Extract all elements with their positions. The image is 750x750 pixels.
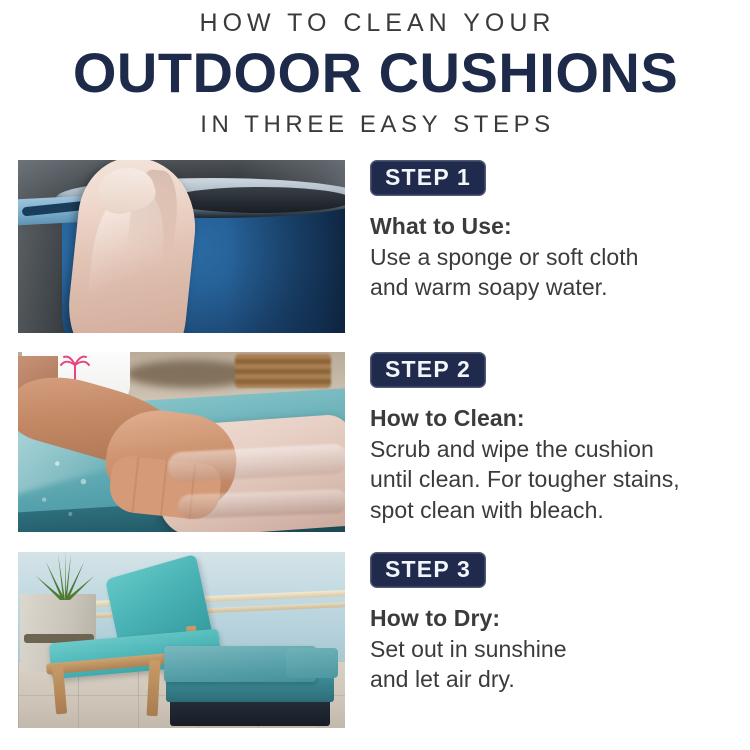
infographic-poster: HOW TO CLEAN YOUR OUTDOOR CUSHIONS IN TH…: [0, 0, 750, 750]
bucket-rim-shadow: [168, 187, 345, 213]
step-1-photo: [18, 160, 345, 333]
header-subkicker: IN THREE EASY STEPS: [0, 113, 750, 137]
step-3-text: STEP 3 How to Dry: Set out in sunshine a…: [370, 552, 740, 695]
step-1-badge: STEP 1: [370, 160, 486, 196]
step-2-badge: STEP 2: [370, 352, 486, 388]
page-title: OUTDOOR CUSHIONS: [0, 45, 750, 101]
header-kicker: HOW TO CLEAN YOUR: [0, 11, 750, 36]
cleaning-photo-illustration: [18, 352, 345, 532]
step-1-body-line: Use a sponge or soft cloth: [370, 242, 740, 272]
step-2-body-line: Scrub and wipe the cushion: [370, 434, 740, 464]
poster-header: HOW TO CLEAN YOUR OUTDOOR CUSHIONS IN TH…: [0, 0, 750, 137]
step-2-body: Scrub and wipe the cushion until clean. …: [370, 434, 740, 525]
step-1-text: STEP 1 What to Use: Use a sponge or soft…: [370, 160, 740, 303]
bucket-photo-illustration: [18, 160, 345, 333]
lounge-chair-photo-illustration: [18, 552, 345, 728]
step-3-headline: How to Dry:: [370, 605, 740, 632]
step-2-body-line: until clean. For tougher stains,: [370, 464, 740, 494]
step-3-badge: STEP 3: [370, 552, 486, 588]
step-1-body-line: and warm soapy water.: [370, 272, 740, 302]
step-2-text: STEP 2 How to Clean: Scrub and wipe the …: [370, 352, 740, 525]
agave-plant-icon: [30, 552, 100, 604]
step-2-photo: [18, 352, 345, 532]
step-3-body-line: and let air dry.: [370, 664, 740, 694]
step-1-headline: What to Use:: [370, 213, 740, 240]
step-3-body: Set out in sunshine and let air dry.: [370, 634, 740, 695]
stacked-cushion-top-right: [286, 648, 338, 678]
step-2-body-line: spot clean with bleach.: [370, 495, 740, 525]
step-3-body-line: Set out in sunshine: [370, 634, 740, 664]
step-3-photo: [18, 552, 345, 728]
step-1-body: Use a sponge or soft cloth and warm soap…: [370, 242, 740, 303]
step-2-headline: How to Clean:: [370, 405, 740, 432]
